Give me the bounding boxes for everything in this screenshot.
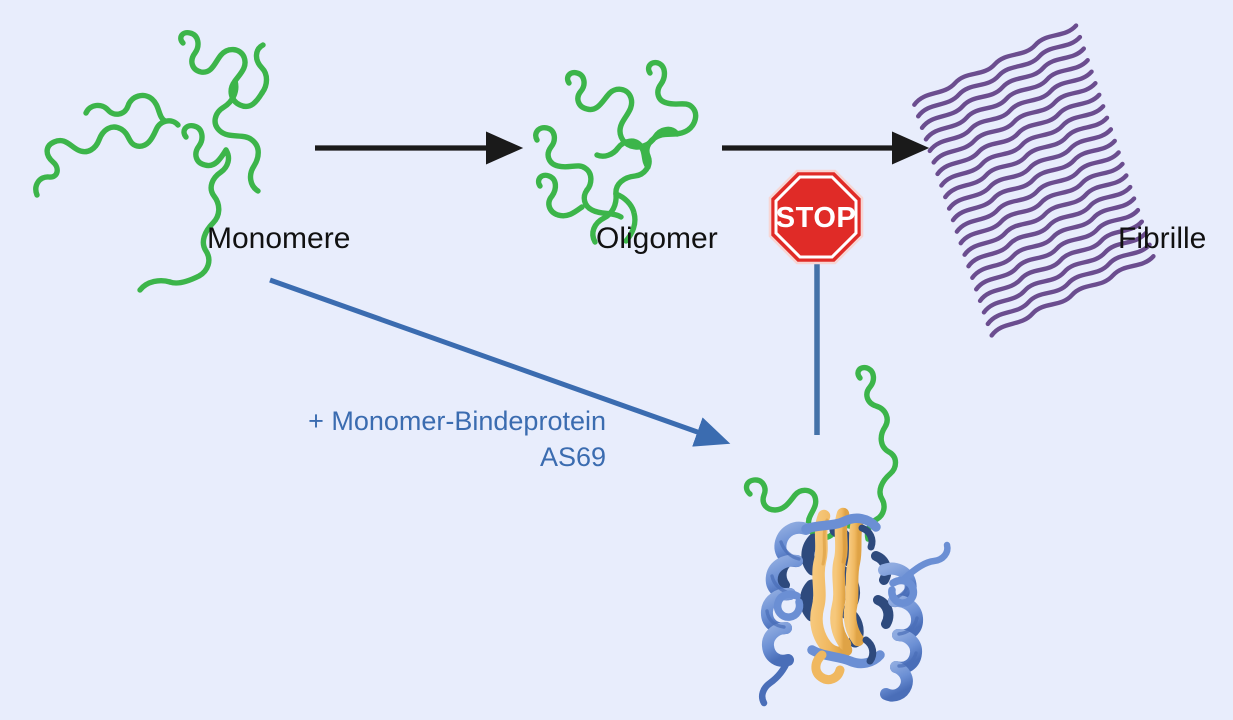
beta-strand-3 xyxy=(850,520,858,640)
stage-label-oligomer: Oligomer xyxy=(596,221,718,256)
annotation-bindeprotein: + Monomer-BindeproteinAS69 xyxy=(258,404,606,475)
annotation-line-1: + Monomer-Bindeprotein xyxy=(308,406,606,436)
aggregation-pathway-svg: STOP xyxy=(0,0,1233,720)
stage-label-monomere: Monomere xyxy=(207,221,350,256)
stage-label-fibrille: Fibrille xyxy=(1118,221,1206,256)
stop-sign-text: STOP xyxy=(776,202,856,234)
annotation-line-2: AS69 xyxy=(540,442,606,472)
diagram-canvas: STOP xyxy=(0,0,1233,720)
